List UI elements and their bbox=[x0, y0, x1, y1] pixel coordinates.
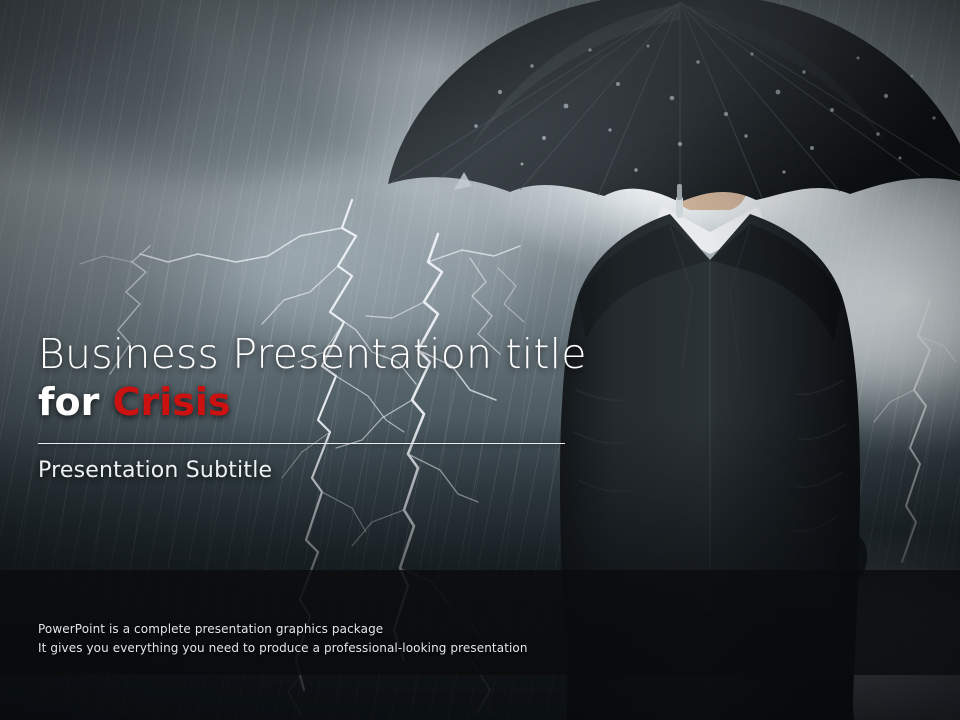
title-accent-text: Crisis bbox=[113, 380, 231, 424]
page-subtitle: Presentation Subtitle bbox=[38, 458, 658, 483]
title-for-text: for bbox=[38, 380, 113, 424]
footer-line-1: PowerPoint is a complete presentation gr… bbox=[38, 620, 528, 639]
page-title: Business Presentation title bbox=[38, 332, 658, 378]
title-block: Business Presentation title for Crisis P… bbox=[38, 332, 658, 483]
footer-text: PowerPoint is a complete presentation gr… bbox=[38, 620, 528, 657]
footer-line-2: It gives you everything you need to prod… bbox=[38, 639, 528, 658]
title-divider bbox=[38, 443, 565, 444]
title-second-line: for Crisis bbox=[38, 380, 658, 425]
presentation-slide: Business Presentation title for Crisis P… bbox=[0, 0, 960, 720]
